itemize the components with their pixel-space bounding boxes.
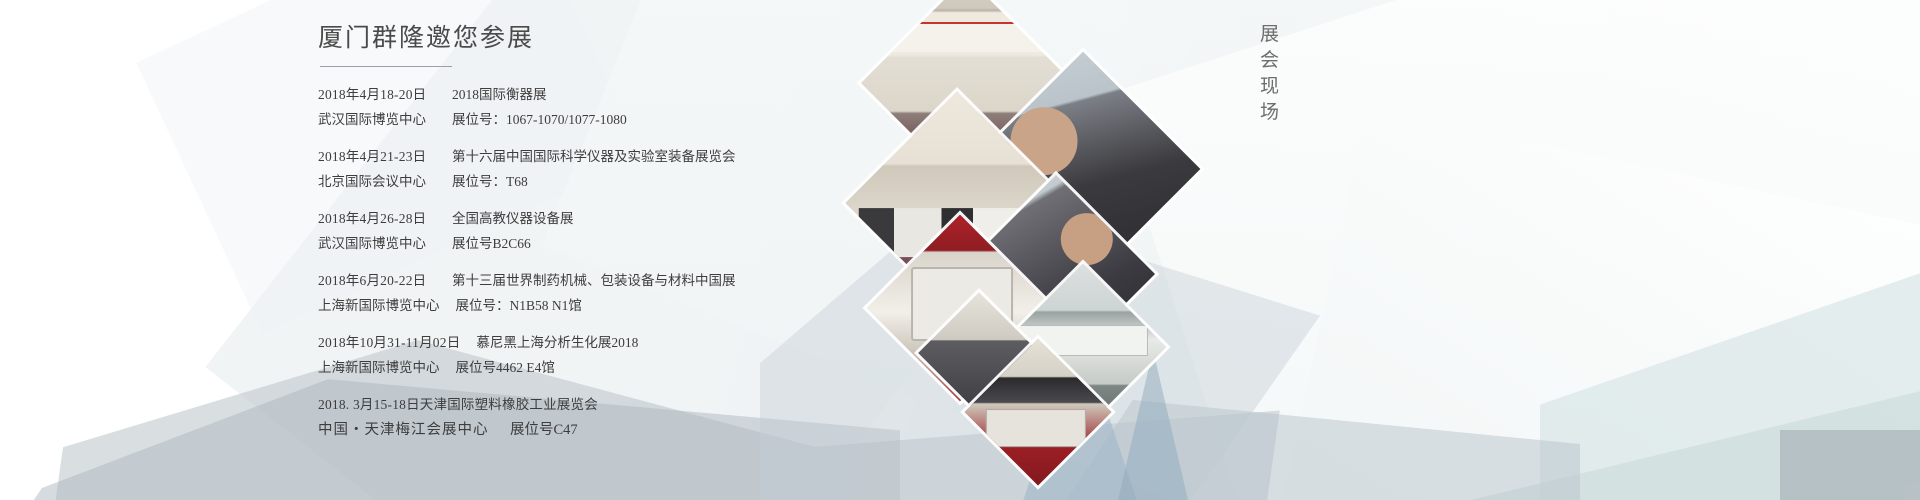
vertical-section-title: 展 会 现 场 <box>1254 22 1288 126</box>
event-venue: 上海新国际博览中心 <box>318 294 440 314</box>
event-name: 第十六届中国国际科学仪器及实验室装备展览会 <box>436 145 736 165</box>
event-booth: 展位号：1067-1070/1077-1080 <box>436 108 627 128</box>
vertical-title-char: 展 <box>1254 22 1288 48</box>
promo-banner: 厦门群隆邀您参展 2018年4月18-20日 2018国际衡器展 武汉国际博览中… <box>0 0 1920 500</box>
background-facet <box>1060 400 1580 500</box>
event-venue: 北京国际会议中心 <box>318 170 436 190</box>
event-booth: 展位号：T68 <box>436 170 528 190</box>
event-date: 2018年10月31-11月02日 <box>318 331 460 351</box>
photo-collage <box>836 4 1196 404</box>
event-venue: 武汉国际博览中心 <box>318 108 436 128</box>
background-facet <box>1780 430 1920 500</box>
vertical-title-char: 会 <box>1254 48 1288 74</box>
event-venue: 武汉国际博览中心 <box>318 232 436 252</box>
event-booth: 展位号C47 <box>494 418 578 439</box>
event-date: 2018年4月21-23日 <box>318 145 436 165</box>
event-date: 2018. 3月15-18日天津国际塑料橡胶工业展览会 <box>318 393 598 413</box>
background-facet <box>1540 200 1920 500</box>
event-row-secondary: 中国・天津梅江会展中心 展位号C47 <box>318 418 958 439</box>
vertical-title-char: 场 <box>1254 100 1288 126</box>
background-facet <box>1430 330 1920 500</box>
vertical-title-char: 现 <box>1254 74 1288 100</box>
background-facet <box>1250 107 1920 500</box>
event-date: 2018年4月18-20日 <box>318 83 436 103</box>
event-name: 全国高教仪器设备展 <box>436 207 574 227</box>
event-venue: 中国・天津梅江会展中心 <box>318 418 494 439</box>
event-name: 慕尼黑上海分析生化展2018 <box>460 331 638 351</box>
event-booth: 展位号4462 E4馆 <box>440 356 555 376</box>
event-date: 2018年4月26-28日 <box>318 207 436 227</box>
title-divider <box>320 66 452 67</box>
background-facet <box>1106 0 1920 500</box>
event-date: 2018年6月20-22日 <box>318 269 436 289</box>
event-booth: 展位号B2C66 <box>436 232 531 252</box>
event-venue: 上海新国际博览中心 <box>318 356 440 376</box>
event-booth: 展位号：N1B58 N1馆 <box>440 294 582 314</box>
event-name: 第十三届世界制药机械、包装设备与材料中国展 <box>436 269 736 289</box>
event-name: 2018国际衡器展 <box>436 83 547 103</box>
